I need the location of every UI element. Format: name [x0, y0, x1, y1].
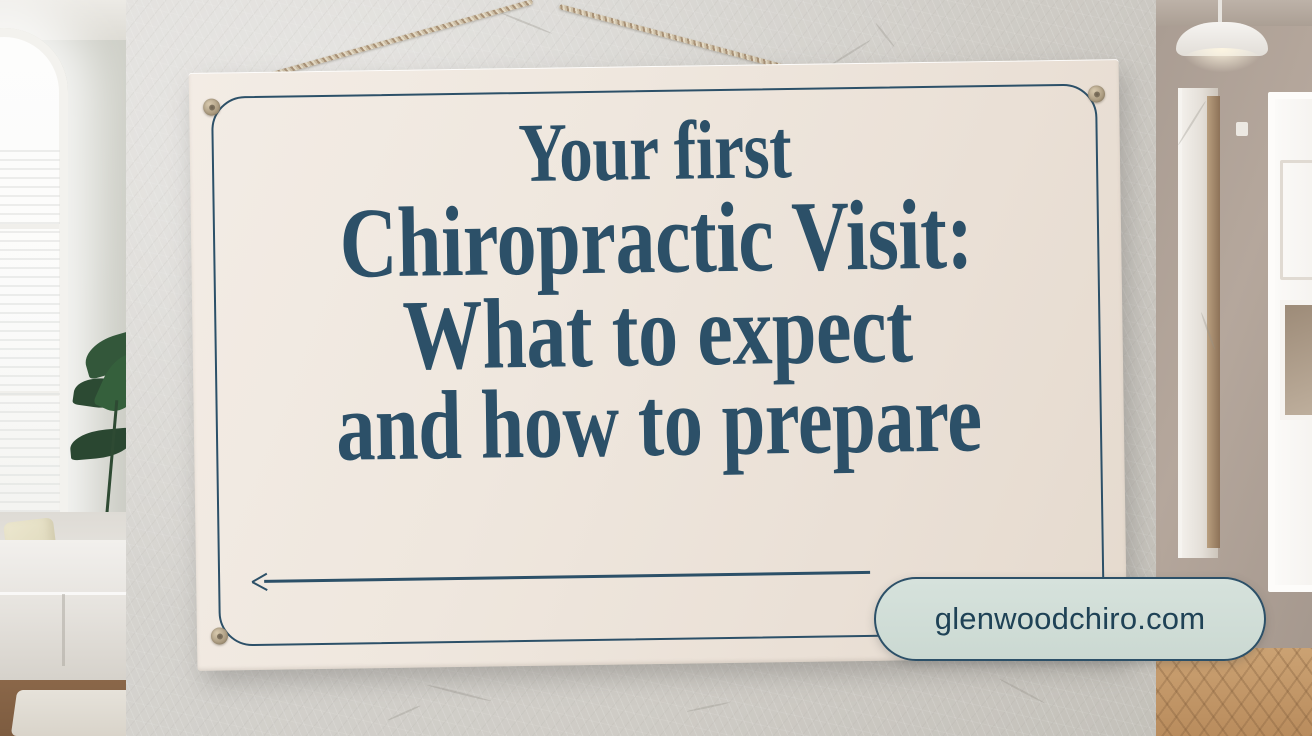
- herringbone-wood-floor: [1152, 648, 1312, 736]
- door-panel: [1280, 160, 1312, 280]
- screw-icon: [1088, 85, 1105, 102]
- light-switch[interactable]: [1236, 122, 1248, 136]
- window-blinds: [0, 150, 60, 520]
- sign-headline: Your first Chiropractic Visit: What to e…: [233, 104, 1080, 479]
- website-badge[interactable]: glenwoodchiro.com: [874, 577, 1266, 661]
- monstera-leaf: [69, 427, 133, 460]
- door-gap: [1207, 96, 1220, 548]
- headline-line-4: and how to prepare: [321, 370, 996, 477]
- door-glass-pane: [1280, 300, 1312, 420]
- scene-root: Your first Chiropractic Visit: What to e…: [0, 0, 1312, 736]
- lamp-glow: [1182, 48, 1262, 72]
- screw-icon: [211, 627, 228, 644]
- website-url-text: glenwoodchiro.com: [935, 601, 1206, 637]
- sofa-cushion-divider: [62, 594, 65, 666]
- plant-stem: [105, 400, 119, 522]
